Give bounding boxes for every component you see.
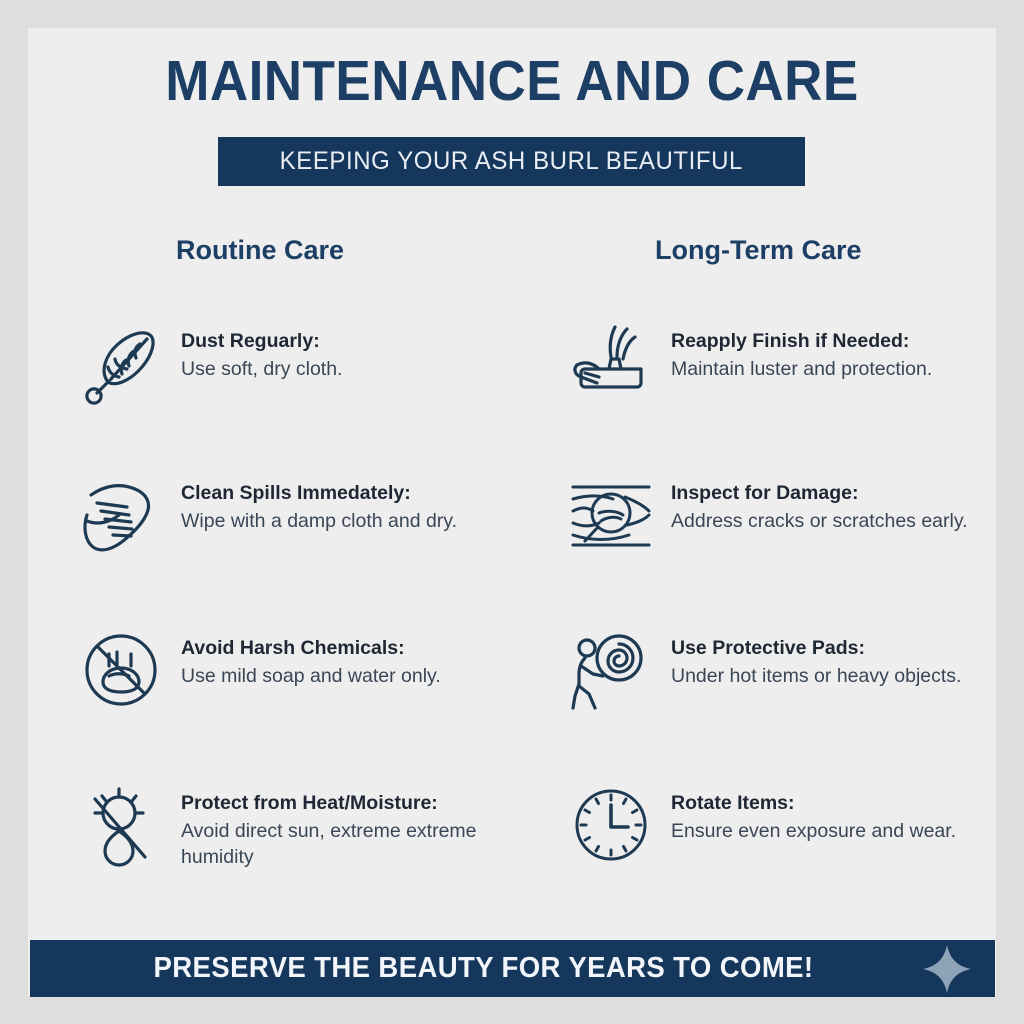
list-item: Reapply Finish if Needed: Maintain luste… xyxy=(565,313,1024,433)
list-item: Inspect for Damage: Address cracks or sc… xyxy=(565,465,1024,585)
list-item-heading: Clean Spills Immedately: xyxy=(181,481,531,507)
column-heading-routine-care: Routine Care xyxy=(176,235,344,266)
no-sun-heat-icon xyxy=(75,779,167,871)
subtitle-banner: KEEPING YOUR ASH BURL BEAUTIFUL xyxy=(218,137,805,186)
list-item-description: Use soft, dry cloth. xyxy=(181,356,531,382)
list-item-text: Dust Reguarly: Use soft, dry cloth. xyxy=(181,329,531,382)
list-item: Rotate Items: Ensure even exposure and w… xyxy=(565,775,1024,895)
list-item-heading: Use Protective Pads: xyxy=(671,636,1024,662)
list-item-text: Protect from Heat/Moisture: Avoid direct… xyxy=(181,791,531,870)
list-item-description: Avoid direct sun, extreme extreme humidi… xyxy=(181,818,531,871)
list-item: Avoid Harsh Chemicals: Use mild soap and… xyxy=(75,620,535,740)
feather-duster-icon xyxy=(75,317,167,409)
hand-wiping-cloth-icon xyxy=(75,469,167,561)
list-item-heading: Reapply Finish if Needed: xyxy=(671,329,1024,355)
sparkle-diamond-icon xyxy=(899,943,995,995)
footer-text: PRESERVE THE BEAUTY FOR YEARS TO COME! xyxy=(52,952,878,985)
person-carrying-pad-icon xyxy=(565,624,657,716)
list-item: Use Protective Pads: Under hot items or … xyxy=(565,620,1024,740)
list-item-text: Inspect for Damage: Address cracks or sc… xyxy=(671,481,1024,534)
list-item-description: Wipe with a damp cloth and dry. xyxy=(181,508,531,534)
page-title: MAINTENANCE AND CARE xyxy=(62,50,962,113)
footer-banner: PRESERVE THE BEAUTY FOR YEARS TO COME! xyxy=(30,940,995,997)
subtitle-text: KEEPING YOUR ASH BURL BEAUTIFUL xyxy=(280,147,743,176)
poster-root: MAINTENANCE AND CARE KEEPING YOUR ASH BU… xyxy=(0,0,1024,1024)
list-item-heading: Dust Reguarly: xyxy=(181,329,531,355)
list-item-description: Ensure even exposure and wear. xyxy=(671,818,1024,844)
list-item-heading: Protect from Heat/Moisture: xyxy=(181,791,531,817)
list-item-description: Maintain luster and protection. xyxy=(671,356,1024,382)
no-chemicals-icon xyxy=(75,624,167,716)
list-item-text: Rotate Items: Ensure even exposure and w… xyxy=(671,791,1024,844)
list-item-heading: Rotate Items: xyxy=(671,791,1024,817)
hand-applying-finish-icon xyxy=(565,317,657,409)
list-item-heading: Avoid Harsh Chemicals: xyxy=(181,636,531,662)
magnifier-wood-grain-icon xyxy=(565,469,657,561)
list-item: Protect from Heat/Moisture: Avoid direct… xyxy=(75,775,535,895)
list-item-text: Clean Spills Immedately: Wipe with a dam… xyxy=(181,481,531,534)
list-item-description: Under hot items or heavy objects. xyxy=(671,663,1024,689)
list-item-text: Avoid Harsh Chemicals: Use mild soap and… xyxy=(181,636,531,689)
clock-icon xyxy=(565,779,657,871)
column-heading-long-term-care: Long-Term Care xyxy=(655,235,862,266)
list-item-text: Use Protective Pads: Under hot items or … xyxy=(671,636,1024,689)
list-item: Dust Reguarly: Use soft, dry cloth. xyxy=(75,313,535,433)
list-item-description: Address cracks or scratches early. xyxy=(671,508,1024,534)
list-item-description: Use mild soap and water only. xyxy=(181,663,531,689)
list-item-heading: Inspect for Damage: xyxy=(671,481,1024,507)
list-item: Clean Spills Immedately: Wipe with a dam… xyxy=(75,465,535,585)
list-item-text: Reapply Finish if Needed: Maintain luste… xyxy=(671,329,1024,382)
